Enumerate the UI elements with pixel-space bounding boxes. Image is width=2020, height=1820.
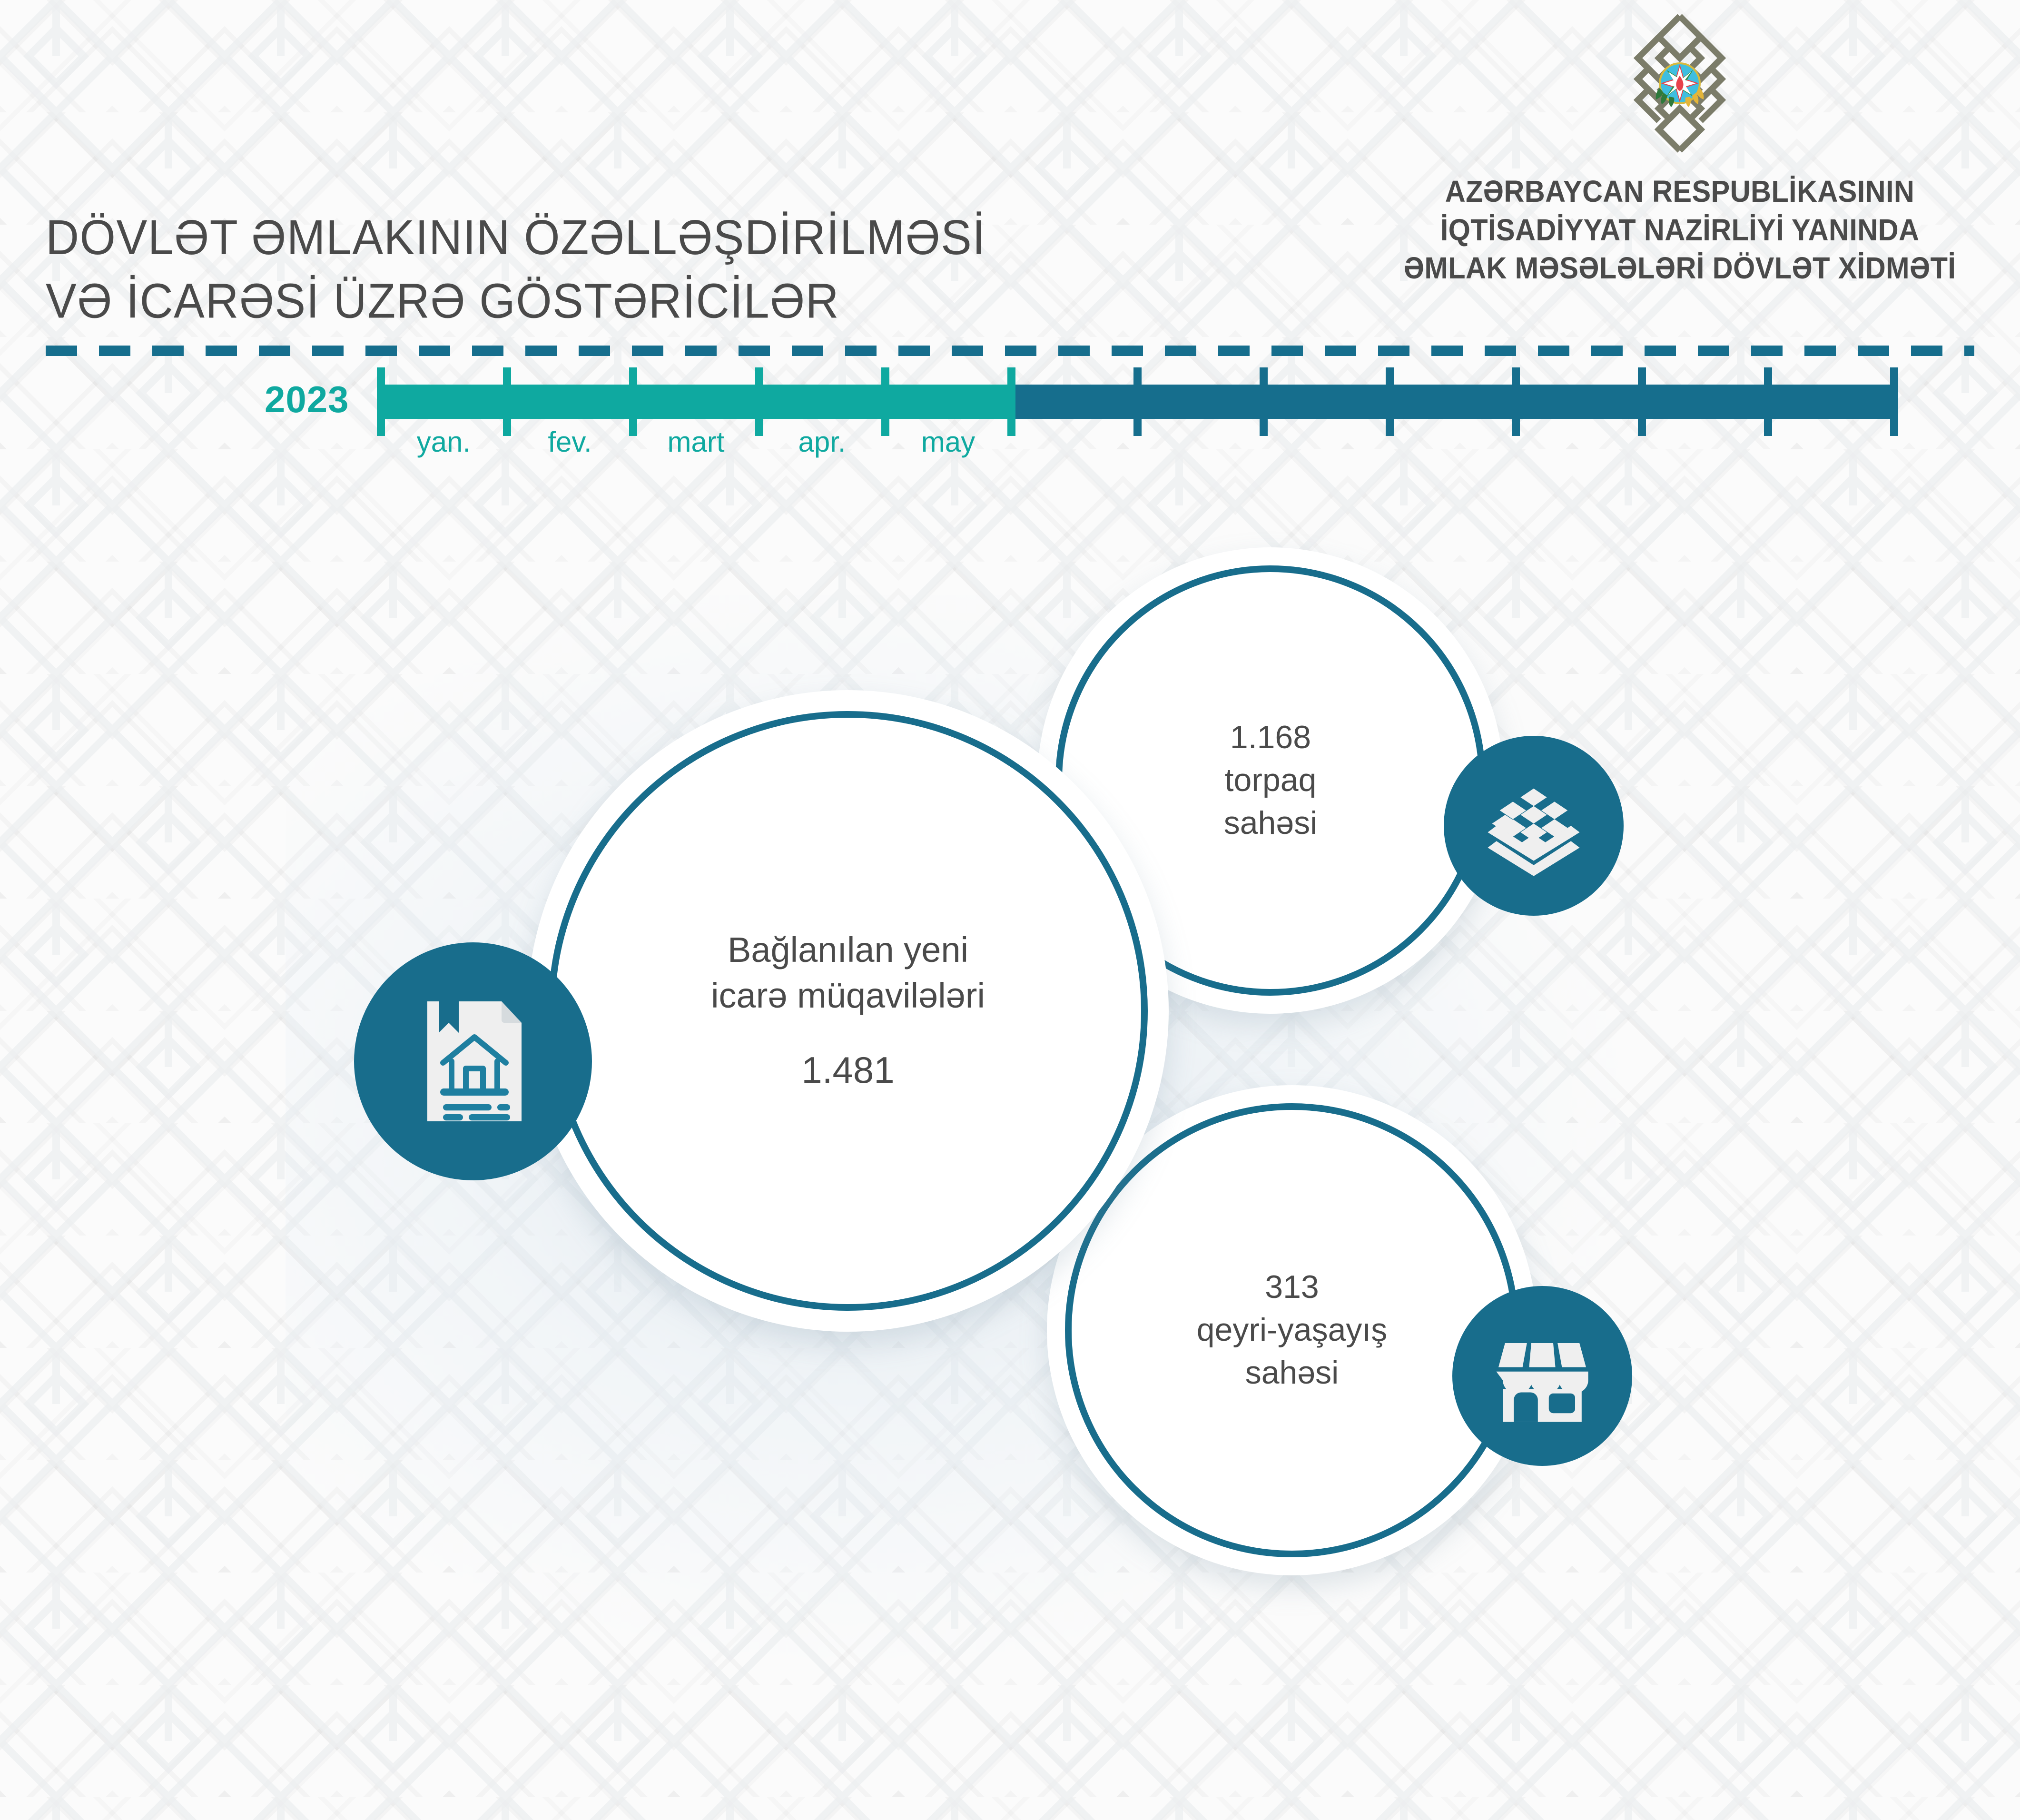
- document-house-contract-icon: [402, 990, 544, 1133]
- page-title: DÖVLƏT ƏMLAKININ ÖZƏLLƏŞDİRİLMƏSİ VƏ İCA…: [46, 206, 986, 333]
- timeline-elapsed-fill: [381, 385, 1011, 419]
- timeline-remaining-fill: [1011, 385, 1894, 419]
- badge-document-house[interactable]: [354, 942, 592, 1180]
- timeline-tick: [377, 367, 385, 436]
- land-layers-icon: [1479, 771, 1588, 880]
- timeline-tick: [1764, 367, 1772, 436]
- timeline-month-yan: yan.: [417, 425, 471, 458]
- header-divider: [46, 346, 1974, 356]
- timeline-tick: [629, 367, 637, 436]
- badge-land-layers[interactable]: [1444, 736, 1624, 916]
- timeline-tick: [881, 367, 889, 436]
- badge-storefront[interactable]: [1452, 1286, 1632, 1466]
- timeline-month-mart: mart: [668, 425, 725, 458]
- timeline-year: 2023: [265, 378, 349, 421]
- bubble-commercial-label: qeyri-yaşayış sahəsi: [1197, 1309, 1388, 1395]
- timeline-month-fev: fev.: [548, 425, 591, 458]
- timeline-tick: [503, 367, 511, 436]
- timeline-tick: [1007, 367, 1015, 436]
- timeline-tick: [755, 367, 763, 436]
- bubble-commercial-value: 313: [1265, 1266, 1319, 1309]
- azerbaijan-state-emblem-knot-logo: [1601, 5, 1758, 162]
- bubble-land-label: torpaq sahəsi: [1224, 759, 1318, 845]
- bubble-main-value: 1.481: [801, 1046, 894, 1094]
- timeline-tick: [1512, 367, 1520, 436]
- timeline: 2023 yan.fev.martapr.may: [0, 371, 2020, 466]
- statistics-bubbles: 1.168 torpaq sahəsi 313 qeyri-yaşayış sa…: [0, 547, 2020, 1690]
- bubble-land-value: 1.168: [1230, 716, 1311, 759]
- timeline-tick: [1638, 367, 1646, 436]
- timeline-tick: [1133, 367, 1142, 436]
- organization-name: AZƏRBAYCAN RESPUBLİKASININ İQTİSADİYYAT …: [1374, 172, 1985, 287]
- timeline-track[interactable]: yan.fev.martapr.may: [381, 385, 1894, 419]
- bubble-main-content: Bağlanılan yeni icarə müqavilələri 1.481: [527, 690, 1169, 1332]
- storefront-shop-icon: [1488, 1321, 1597, 1431]
- timeline-month-apr: apr.: [798, 425, 846, 458]
- timeline-month-may: may: [921, 425, 975, 458]
- header: DÖVLƏT ƏMLAKININ ÖZƏLLƏŞDİRİLMƏSİ VƏ İCA…: [0, 0, 2020, 362]
- bubble-main-label: Bağlanılan yeni icarə müqavilələri: [711, 927, 985, 1019]
- stat-bubble-contracts[interactable]: Bağlanılan yeni icarə müqavilələri 1.481: [527, 690, 1169, 1332]
- timeline-tick: [1890, 367, 1898, 436]
- timeline-tick: [1260, 367, 1268, 436]
- timeline-tick: [1386, 367, 1394, 436]
- logo-block: AZƏRBAYCAN RESPUBLİKASININ İQTİSADİYYAT …: [1351, 5, 2008, 287]
